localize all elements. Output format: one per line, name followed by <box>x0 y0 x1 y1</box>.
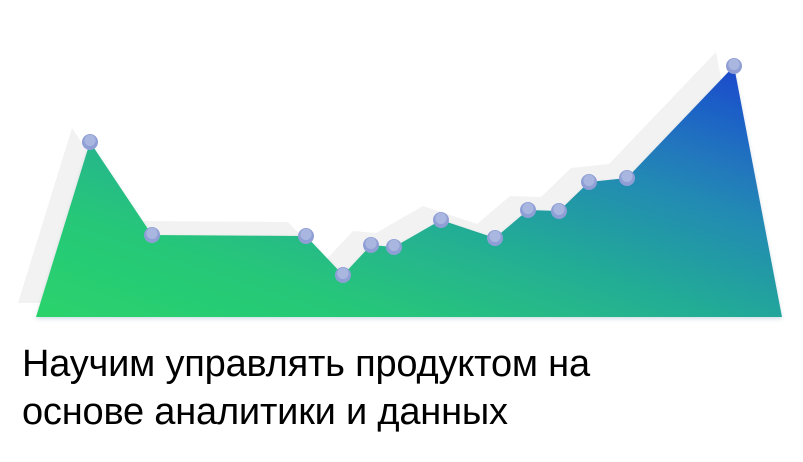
headline-text: Научим управлять продуктом на основе ана… <box>22 340 782 436</box>
data-point-marker-highlight <box>146 228 157 239</box>
data-point-marker-highlight <box>728 59 739 70</box>
data-point-marker-highlight <box>489 231 500 242</box>
area-chart <box>0 0 803 340</box>
promo-banner: Научим управлять продуктом на основе ана… <box>0 0 803 462</box>
data-point-marker-highlight <box>84 135 95 146</box>
data-point-marker-highlight <box>388 240 399 251</box>
data-point-marker-highlight <box>365 238 376 249</box>
data-point-marker-highlight <box>300 229 311 240</box>
data-point-marker-highlight <box>337 268 348 279</box>
data-point-marker-highlight <box>522 203 533 214</box>
data-point-marker-highlight <box>435 213 446 224</box>
data-point-marker-highlight <box>621 171 632 182</box>
data-point-marker-highlight <box>553 204 564 215</box>
area-chart-svg <box>0 0 803 340</box>
data-point-marker-highlight <box>583 175 594 186</box>
